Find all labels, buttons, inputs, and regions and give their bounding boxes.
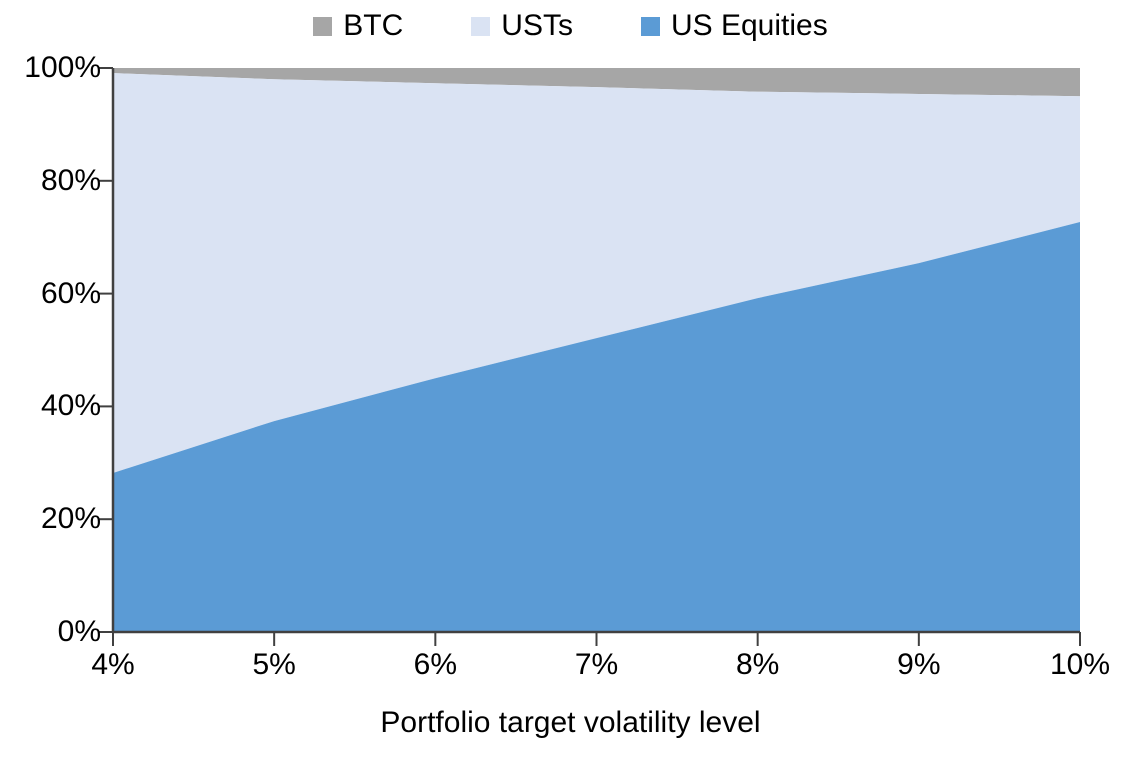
x-axis-tick-label: 6% <box>365 648 505 682</box>
x-axis-tick-label: 4% <box>43 648 183 682</box>
x-axis-title: Portfolio target volatility level <box>0 706 1141 740</box>
x-axis-tick-label: 7% <box>527 648 667 682</box>
stacked-area-chart: BTC USTs US Equities 0%20%40%60%80%100% … <box>0 0 1141 763</box>
x-axis-tick-label: 9% <box>849 648 989 682</box>
x-axis-tick-label: 10% <box>1010 648 1141 682</box>
x-axis-tick-labels: 4%5%6%7%8%9%10% <box>0 0 1141 763</box>
x-axis-tick-label: 8% <box>688 648 828 682</box>
x-axis-tick-label: 5% <box>204 648 344 682</box>
